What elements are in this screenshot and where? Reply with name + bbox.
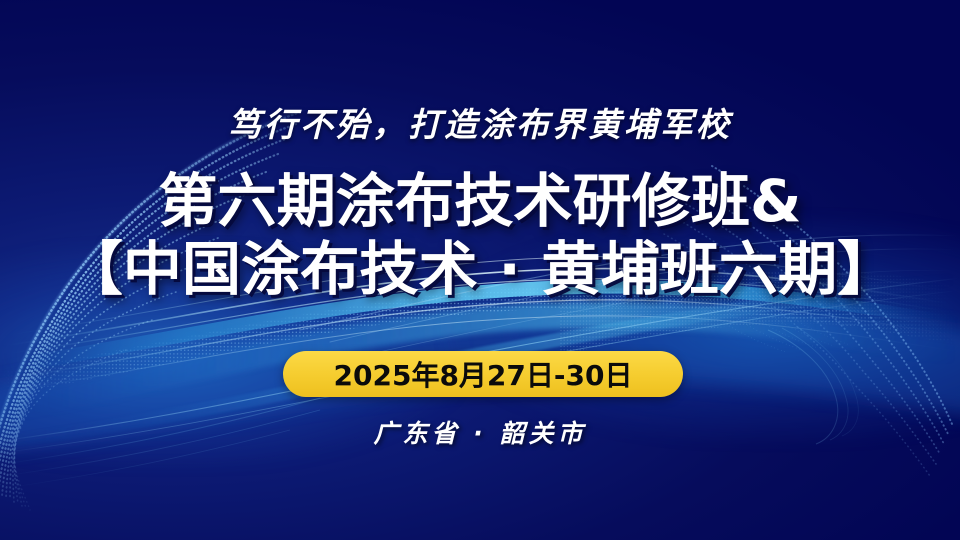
event-banner: 笃行不殆，打造涂布界黄埔军校 第六期涂布技术研修班& 【中国涂布技术 · 黄埔班…	[0, 0, 960, 540]
date-badge: 2025年8月27日-30日	[283, 351, 683, 397]
banner-tagline: 笃行不殆，打造涂布界黄埔军校	[0, 98, 960, 146]
banner-title-line-2: 【中国涂布技术 · 黄埔班六期】	[0, 240, 960, 298]
banner-title-line-1: 第六期涂布技术研修班&	[0, 172, 960, 230]
date-badge-text: 2025年8月27日-30日	[334, 354, 633, 394]
banner-location: 广东省 · 韶关市	[0, 414, 960, 450]
banner-title-group: 第六期涂布技术研修班& 【中国涂布技术 · 黄埔班六期】	[0, 172, 960, 298]
